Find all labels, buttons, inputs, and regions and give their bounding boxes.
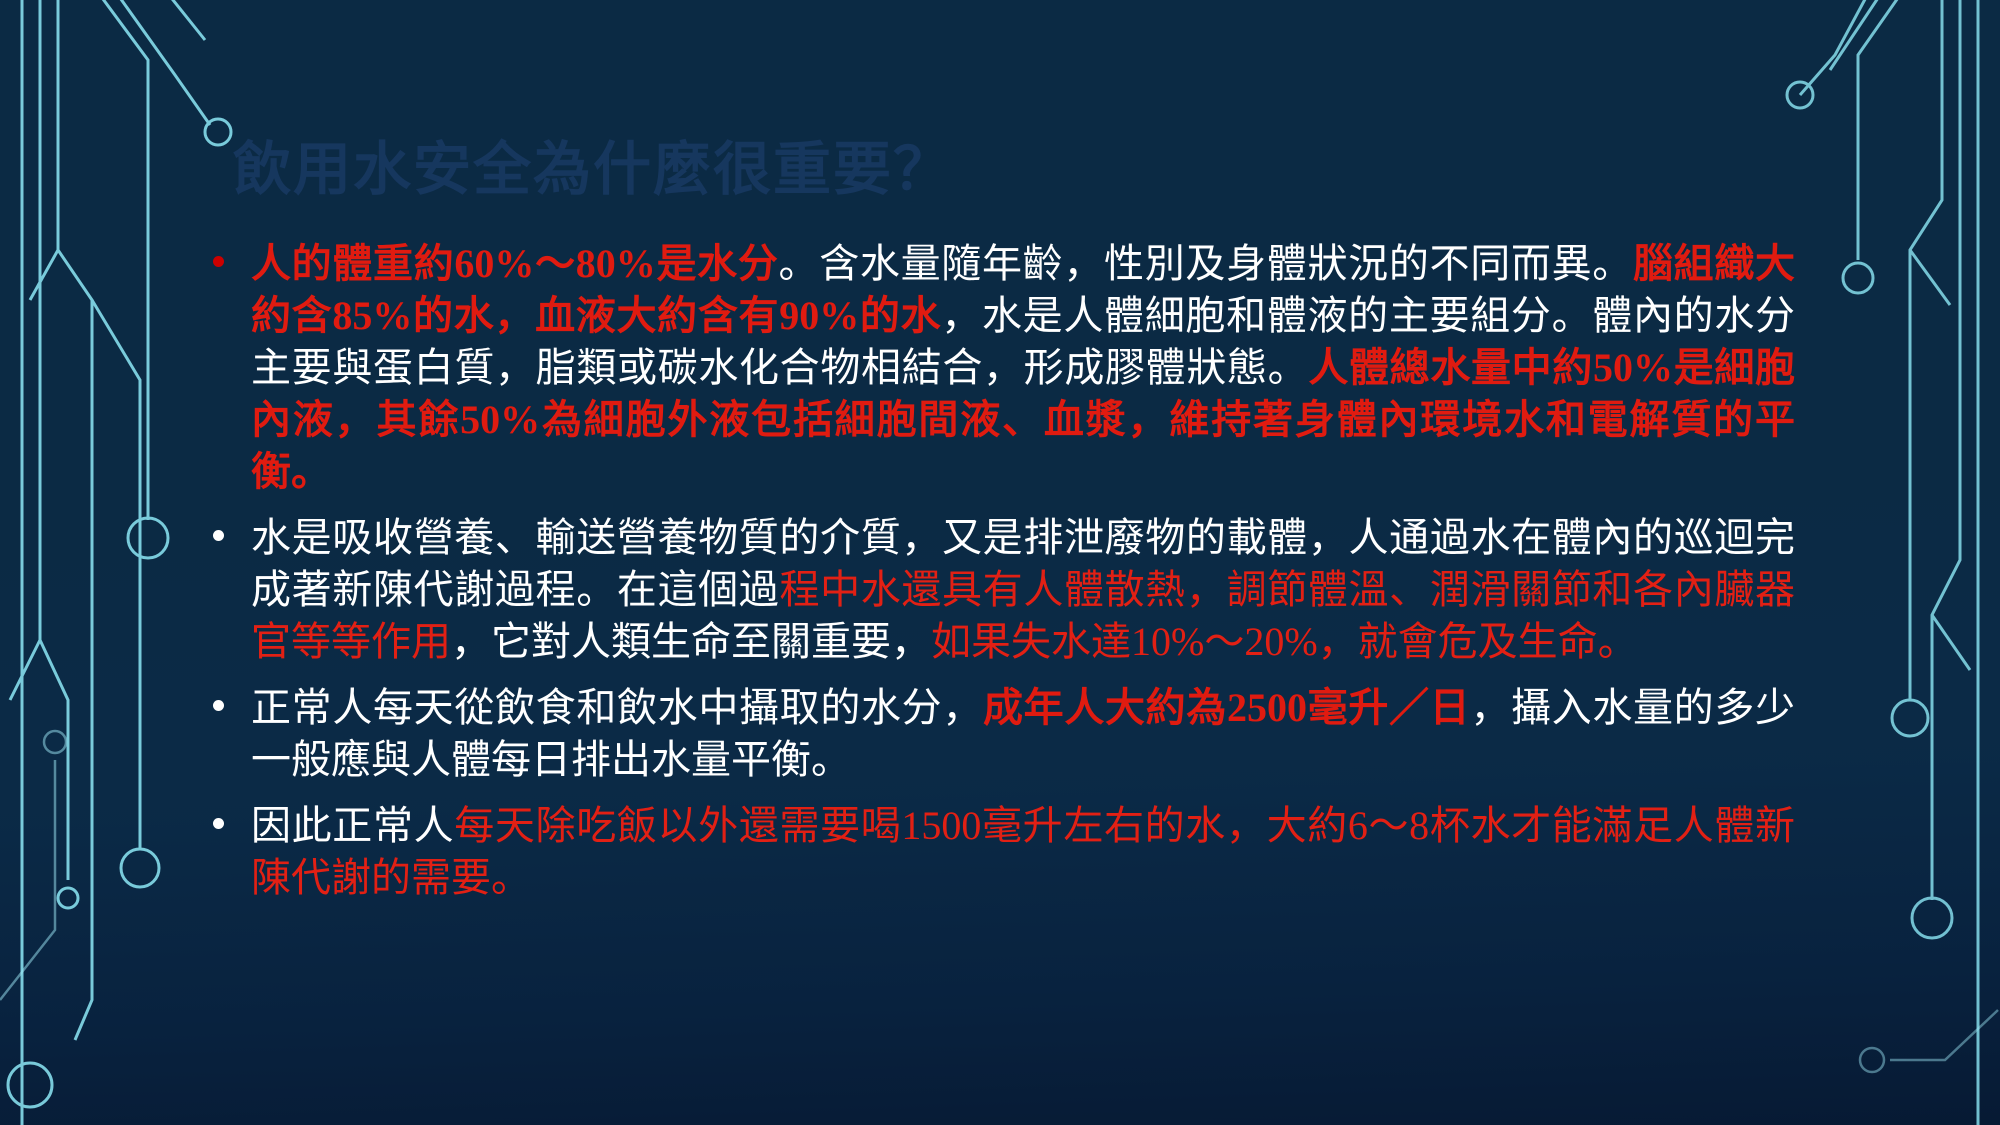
- bullet-dot-icon: [213, 700, 224, 711]
- bullet-1-run-2: 。含水量隨年齡，性別及身體狀況的不同而異。: [779, 241, 1633, 286]
- page-title: 飲用水安全為什麼很重要？: [233, 137, 1733, 204]
- bullet-dot-icon: [213, 530, 224, 541]
- presentation-slide: 飲用水安全為什麼很重要？ 人的體重約60%～80%是水分。含水量隨年齡，性別及身…: [0, 0, 2000, 1125]
- list-item: 正常人每天從飲食和飲水中攝取的水分，成年人大約為2500毫升／日，攝入水量的多少…: [205, 682, 1795, 786]
- list-item: 水是吸收營養、輸送營養物質的介質，又是排泄廢物的載體，人通過水在體內的巡迴完成著…: [205, 512, 1795, 668]
- bullet-4-run-2: 每天除吃飯以外還需要喝1500毫升左右的水，大約6～8杯水才能滿足人體新陳代謝的…: [251, 803, 1795, 900]
- bullet-1-run-1: 人的體重約60%～80%是水分: [251, 241, 779, 286]
- bullet-2-run-3: ，它對人類生命至關重要，: [451, 619, 931, 664]
- bullet-3-run-2: 成年人大約為2500毫升／日: [983, 685, 1470, 730]
- bullet-2-run-4: 如果失水達10%～20%，就會危及生命。: [931, 619, 1638, 664]
- bullet-3-run-1: 正常人每天從飲食和飲水中攝取的水分，: [251, 685, 983, 730]
- bullet-dot-icon: [213, 256, 224, 267]
- list-item: 人的體重約60%～80%是水分。含水量隨年齡，性別及身體狀況的不同而異。腦組織大…: [205, 238, 1795, 498]
- bullet-list: 人的體重約60%～80%是水分。含水量隨年齡，性別及身體狀況的不同而異。腦組織大…: [205, 238, 1795, 918]
- bullet-dot-icon: [213, 818, 224, 829]
- bullet-4-run-1: 因此正常人: [251, 803, 454, 848]
- list-item: 因此正常人每天除吃飯以外還需要喝1500毫升左右的水，大約6～8杯水才能滿足人體…: [205, 800, 1795, 904]
